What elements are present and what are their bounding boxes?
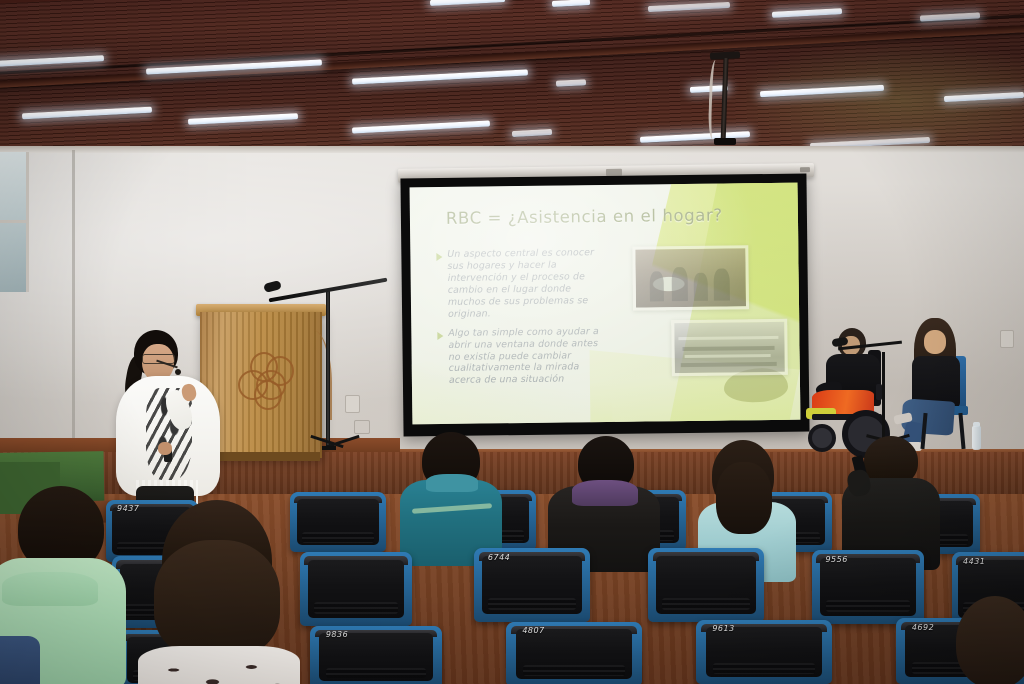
slide-photo-group-meeting xyxy=(632,245,749,310)
wall-seam xyxy=(72,150,75,450)
wheelchair-caster xyxy=(808,424,836,452)
seat-cushion xyxy=(516,629,633,679)
auditorium-seat[interactable]: 4807 xyxy=(506,622,642,684)
hand xyxy=(158,442,172,455)
collar xyxy=(426,474,478,492)
patterned-top xyxy=(138,646,300,684)
seat-number: 9836 xyxy=(326,630,348,639)
slide-bullet-text: Un aspecto central es conocer sus hogare… xyxy=(447,247,612,321)
auditorium-photo: RBC = ¿Asistencia en el hogar? Un aspect… xyxy=(0,0,1024,684)
seat-cushion xyxy=(656,556,756,614)
audience-long-hair-patterned-top xyxy=(136,500,300,684)
seat-cushion xyxy=(308,560,404,618)
audience-phone-call xyxy=(842,436,942,556)
hood xyxy=(2,572,98,606)
auditorium-seat[interactable] xyxy=(290,492,386,552)
audience-teal-jacket xyxy=(398,432,504,552)
microphone-stand-pole[interactable] xyxy=(882,352,885,444)
microphone-stand-pole[interactable] xyxy=(326,290,330,450)
seat-number: 9613 xyxy=(712,624,734,633)
audience-light-blue-top xyxy=(694,440,798,558)
seat-number: 4431 xyxy=(963,557,985,566)
face xyxy=(924,330,946,354)
auditorium-seat[interactable]: 6744 xyxy=(474,548,590,622)
wall-outlet[interactable] xyxy=(345,395,360,413)
long-hair xyxy=(716,462,772,534)
screen-endcap xyxy=(800,167,810,172)
rings-emblem-icon xyxy=(238,346,300,410)
wall-trim xyxy=(0,146,1024,153)
audience-green-hoodie xyxy=(0,486,128,684)
seat-number: 9556 xyxy=(825,555,847,564)
list-item: Un aspecto central es conocer sus hogare… xyxy=(436,247,612,321)
triangle-bullet-icon xyxy=(436,253,442,261)
ceiling xyxy=(0,0,1024,152)
adjacent-shoulder xyxy=(0,636,40,684)
projector-mount-base xyxy=(714,138,736,145)
headset-microphone-icon xyxy=(175,369,181,375)
microphone-tripod-base xyxy=(322,446,336,450)
seat-cushion xyxy=(706,627,823,677)
wall-switch[interactable] xyxy=(1000,330,1014,348)
slide-bullet-list: Un aspecto central es conocer sus hogare… xyxy=(436,247,613,394)
seat-cushion xyxy=(319,633,433,681)
slide-title: RBC = ¿Asistencia en el hogar? xyxy=(446,205,746,228)
audience-black-leather-jacket xyxy=(548,436,662,556)
water-bottle[interactable] xyxy=(972,426,981,450)
seat-cushion xyxy=(482,556,582,614)
chair-leg xyxy=(958,413,965,449)
seat-cushion xyxy=(297,499,380,546)
wall-outlet[interactable] xyxy=(354,420,370,434)
seat-number: 4692 xyxy=(912,623,934,632)
slide-photo-settlement xyxy=(671,319,788,376)
triangle-bullet-icon xyxy=(437,332,443,340)
slide-bullet-text: Algo tan simple como ayudar a abrir una … xyxy=(448,326,613,388)
list-item: Algo tan simple como ayudar a abrir una … xyxy=(437,326,613,388)
seat-number: 6744 xyxy=(488,553,510,562)
long-hair xyxy=(154,540,280,658)
auditorium-seat[interactable]: 9556 xyxy=(812,550,924,624)
auditorium-seat[interactable]: 9836 xyxy=(310,626,442,684)
seat-cushion xyxy=(820,558,916,616)
auditorium-seat[interactable] xyxy=(648,548,764,622)
seat-number: 4807 xyxy=(522,626,544,635)
window xyxy=(0,152,29,292)
purple-hood xyxy=(572,480,638,506)
projection-screen: RBC = ¿Asistencia en el hogar? Un aspect… xyxy=(400,174,809,437)
head xyxy=(956,596,1024,684)
auditorium-seat[interactable] xyxy=(300,552,412,626)
auditorium-seat[interactable]: 9613 xyxy=(696,620,832,684)
window-mullion xyxy=(0,220,26,223)
audience-partial-right xyxy=(956,596,1024,684)
slide-surface: RBC = ¿Asistencia en el hogar? Un aspect… xyxy=(410,183,801,425)
seated-woman xyxy=(898,318,982,450)
